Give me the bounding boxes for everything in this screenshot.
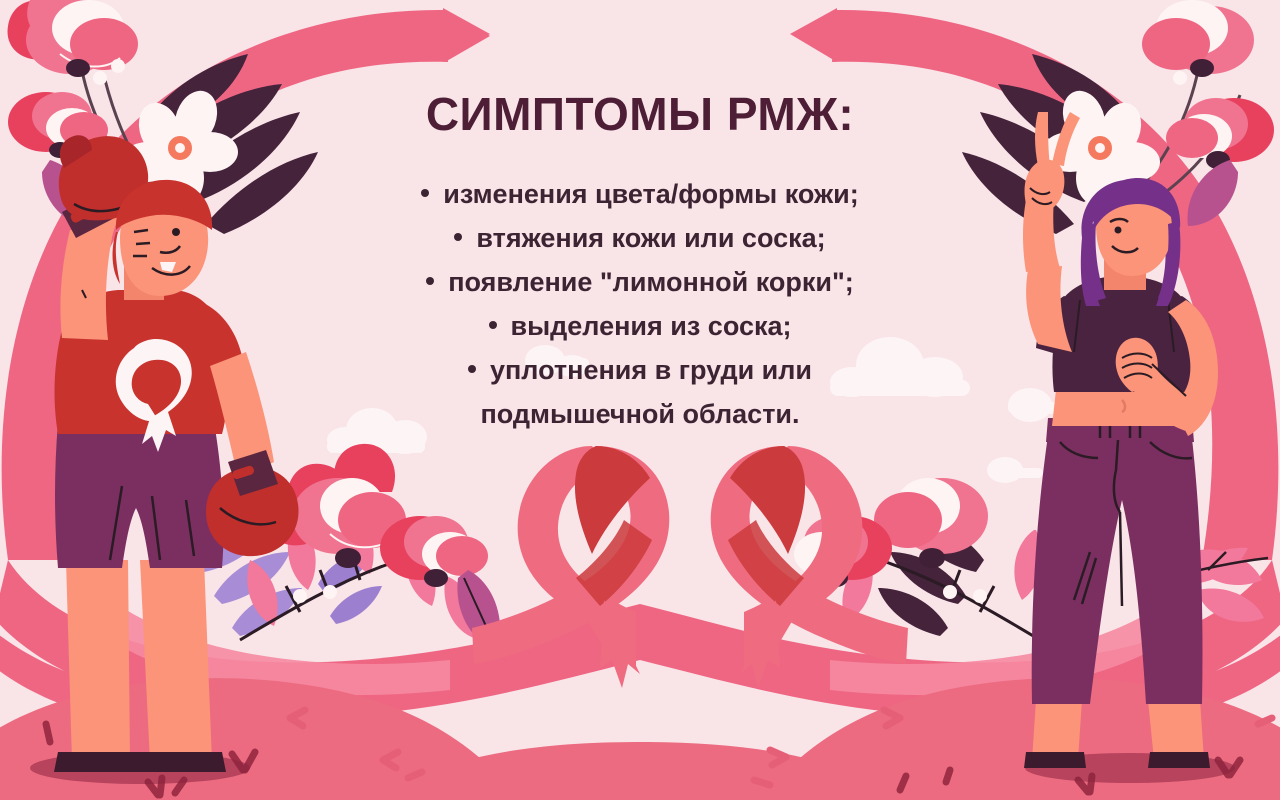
list-item: уплотнения в груди или подмышечной облас… bbox=[290, 348, 990, 436]
list-item-label: появление "лимонной корки"; bbox=[448, 267, 854, 297]
list-item: втяжения кожи или соска; bbox=[290, 216, 990, 260]
bullet-icon bbox=[489, 321, 497, 329]
bullet-icon bbox=[421, 189, 429, 197]
list-item-label: втяжения кожи или соска; bbox=[476, 223, 825, 253]
poster-canvas: СИМПТОМЫ РМЖ: изменения цвета/формы кожи… bbox=[0, 0, 1280, 800]
list-item: изменения цвета/формы кожи; bbox=[290, 172, 990, 216]
poster-content: СИМПТОМЫ РМЖ: изменения цвета/формы кожи… bbox=[0, 0, 1280, 800]
list-item: появление "лимонной корки"; bbox=[290, 260, 990, 304]
page-title: СИМПТОМЫ РМЖ: bbox=[0, 87, 1280, 141]
list-item: выделения из соска; bbox=[290, 304, 990, 348]
list-item-label: изменения цвета/формы кожи; bbox=[443, 179, 859, 209]
bullet-icon bbox=[468, 365, 476, 373]
bullet-icon bbox=[454, 233, 462, 241]
list-item-label: выделения из соска; bbox=[511, 311, 792, 341]
bullet-icon bbox=[426, 277, 434, 285]
list-item-label: уплотнения в груди или подмышечной облас… bbox=[480, 355, 812, 429]
symptom-list: изменения цвета/формы кожи; втяжения кож… bbox=[290, 172, 990, 436]
